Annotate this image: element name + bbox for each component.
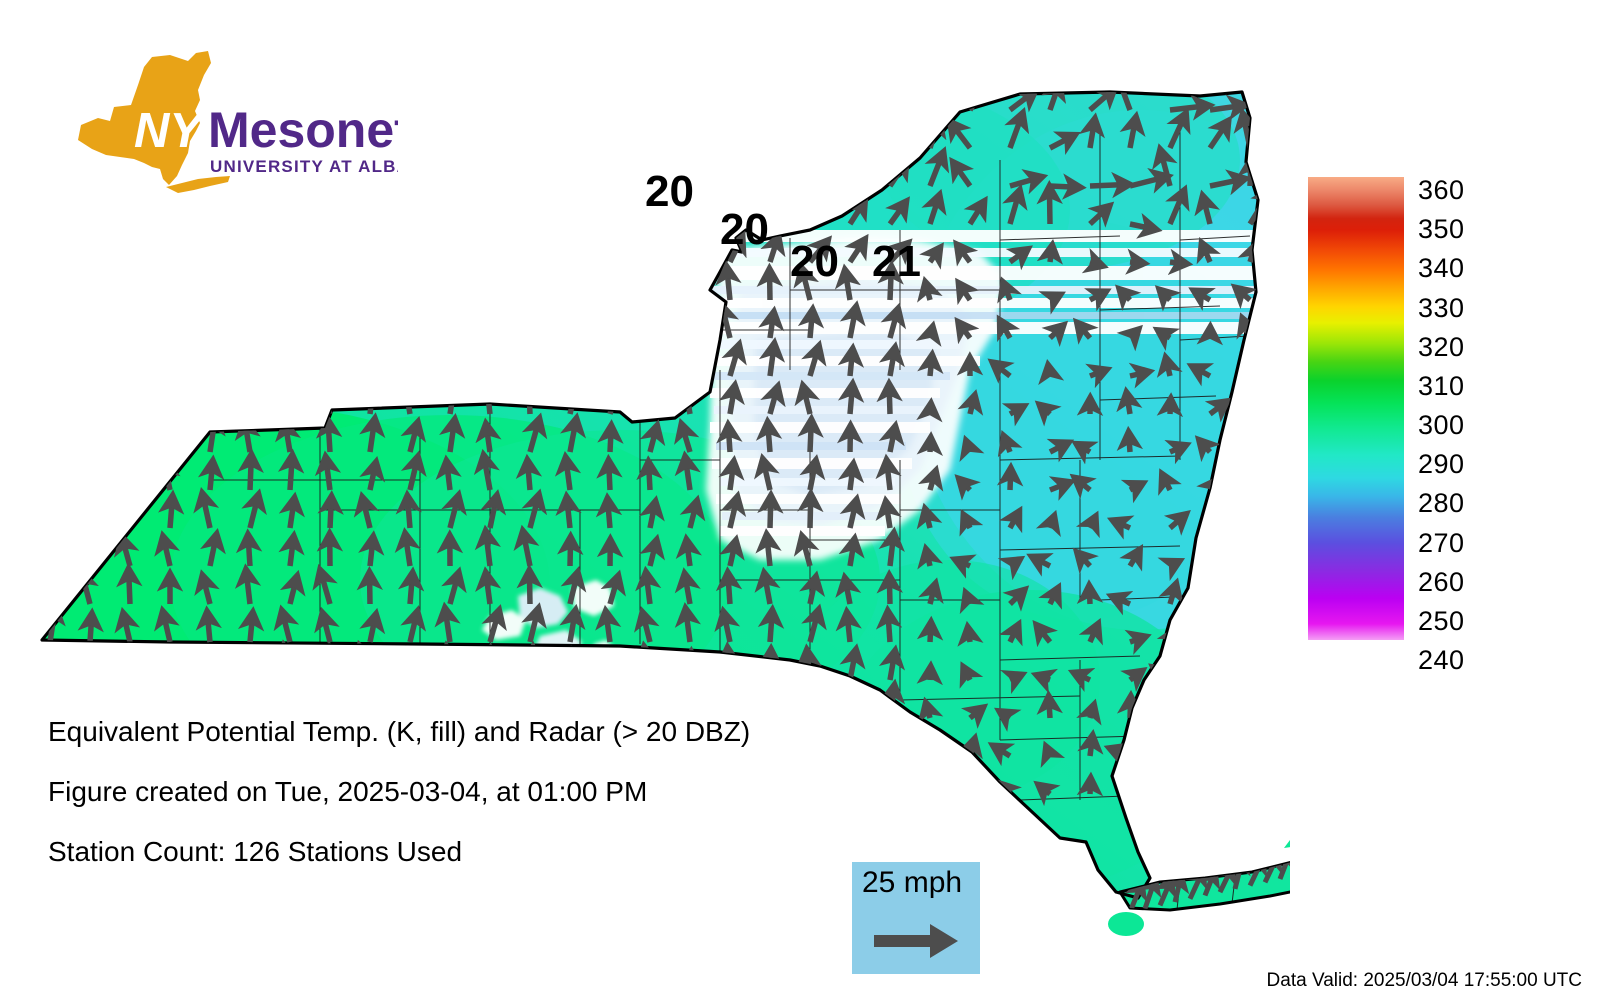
- wind-vector: [330, 347, 335, 376]
- wind-vector: [450, 230, 451, 262]
- wind-vector: [169, 304, 170, 338]
- wind-vector: [890, 533, 894, 566]
- wind-vector: [50, 538, 54, 566]
- wind-vector: [89, 417, 90, 452]
- wind-vector: [330, 233, 338, 262]
- wind-vector: [530, 192, 533, 224]
- wind-vector: [284, 646, 290, 680]
- wind-vector: [50, 81, 57, 110]
- wind-vector: [250, 455, 251, 490]
- wind-vector: [642, 343, 650, 376]
- wind-vector: [403, 194, 410, 224]
- wind-vector: [490, 227, 498, 262]
- wind-vector: [610, 652, 617, 680]
- wind-vector: [170, 270, 174, 300]
- wind-vector: [1050, 246, 1052, 263]
- wind-vector: [122, 118, 130, 148]
- wind-vector: [1243, 470, 1250, 490]
- wind-vector: [1170, 708, 1182, 718]
- wind-vector: [530, 272, 534, 300]
- wind-vector: [570, 651, 571, 680]
- wind-vector: [610, 426, 611, 452]
- wind-vector: [650, 234, 657, 262]
- wind-vector: [170, 649, 173, 680]
- wind-vector: [1250, 411, 1261, 414]
- wind-vector: [570, 305, 576, 338]
- wind-vector: [207, 270, 210, 300]
- wind-vector: [490, 155, 492, 186]
- wind-vector: [286, 114, 290, 148]
- wind-vector: [803, 689, 810, 718]
- wind-vector: [50, 576, 54, 604]
- wind-vector: [770, 195, 788, 224]
- colorbar-tick-340: 340: [1418, 255, 1465, 282]
- wind-vector: [1161, 741, 1170, 756]
- wind-vector: [566, 194, 571, 224]
- wind-vector: [447, 647, 451, 680]
- wind-vector: [90, 343, 96, 376]
- wind-vector: [810, 75, 828, 110]
- wind-vector: [930, 622, 931, 642]
- wind-vector: [1248, 358, 1251, 376]
- colorbar-tick-280: 280: [1418, 490, 1465, 517]
- wind-vector: [649, 462, 651, 490]
- wind-vector: [690, 346, 696, 376]
- wind-vector: [366, 307, 370, 338]
- wind-vector: [530, 80, 536, 111]
- wind-vector: [130, 456, 137, 490]
- wind-speed-key: 25 mph: [852, 862, 980, 974]
- wind-vector: [930, 355, 932, 376]
- wind-vector: [850, 384, 853, 414]
- colorbar-tick-310: 310: [1418, 373, 1465, 400]
- wind-vector: [1170, 399, 1171, 414]
- wind-vector: [290, 383, 294, 414]
- wind-vector: [1240, 559, 1250, 566]
- wind-vector: [81, 535, 90, 566]
- wind-vector: [969, 784, 970, 794]
- wind-vector: [888, 611, 890, 642]
- wind-vector: [850, 464, 853, 490]
- wind-vector: [689, 121, 690, 148]
- wind-vector: [170, 189, 172, 224]
- wind-vector: [1129, 433, 1130, 453]
- wind-vector: [730, 84, 742, 110]
- colorbar-tick-290: 290: [1418, 451, 1465, 478]
- colorbar-tick-300: 300: [1418, 412, 1465, 439]
- wind-vector: [250, 345, 251, 376]
- figure-created-text: Figure created on Tue, 2025-03-04, at 01…: [48, 778, 948, 806]
- wind-vector: [565, 113, 570, 148]
- wind-vector: [570, 684, 580, 718]
- wind-vector: [402, 113, 410, 148]
- wind-vector: [727, 267, 730, 300]
- wind-vector: [1250, 740, 1262, 756]
- wind-vector: [1090, 736, 1093, 756]
- wind-vector: [650, 308, 655, 338]
- wind-vector: [610, 157, 614, 186]
- wind-vector: [889, 384, 890, 414]
- wind-vector: [850, 349, 853, 376]
- wind-vector: [527, 460, 530, 490]
- wind-vector: [210, 307, 212, 338]
- wind-vector: [1210, 556, 1212, 566]
- wind-vector: [1089, 586, 1090, 604]
- wind-vector: [45, 155, 50, 186]
- wind-vector: [248, 535, 250, 566]
- wind-vector: [126, 423, 130, 452]
- right-arrow-icon: [874, 922, 960, 960]
- wind-vector: [441, 116, 450, 148]
- wind-vector: [290, 229, 297, 263]
- wind-vector: [283, 683, 291, 718]
- wind-vector: [49, 266, 50, 300]
- wind-vector: [930, 667, 931, 680]
- wind-vector: [810, 310, 813, 338]
- wind-vector: [1090, 778, 1091, 794]
- wind-vector: [121, 307, 130, 338]
- wind-vector: [610, 191, 615, 224]
- wind-vector: [566, 77, 570, 110]
- wind-vector: [890, 120, 902, 149]
- colorbar-tick-330: 330: [1418, 295, 1465, 322]
- wind-vector: [603, 85, 610, 110]
- wind-vector: [85, 304, 90, 338]
- wind-vector: [330, 268, 336, 300]
- colorbar-tick-360: 360: [1418, 177, 1465, 204]
- wind-vector: [45, 347, 51, 377]
- wind-vector: [210, 151, 218, 186]
- wind-vector: [408, 302, 410, 338]
- wind-vector: [730, 121, 743, 148]
- wind-vector: [770, 650, 771, 681]
- wind-vector: [646, 270, 650, 300]
- wind-vector: [770, 610, 772, 642]
- wind-vector: [90, 155, 97, 186]
- wind-vector: [570, 155, 571, 186]
- wind-vector: [490, 649, 491, 680]
- wind-vector: [50, 422, 52, 452]
- wind-vector: [208, 647, 210, 680]
- wind-vector: [249, 305, 250, 338]
- wind-vector: [850, 88, 866, 111]
- wind-vector: [207, 344, 211, 377]
- station-count-text: Station Count: 126 Stations Used: [48, 838, 948, 866]
- wind-vector: [686, 267, 690, 300]
- wind-vector: [768, 691, 770, 718]
- wind-vector: [44, 648, 50, 680]
- wind-vector: [370, 537, 373, 566]
- wind-vector: [728, 425, 730, 452]
- wind-vector: [446, 152, 450, 186]
- wind-vector: [330, 113, 332, 148]
- wind-vector: [850, 690, 854, 718]
- wind-vector: [609, 690, 610, 718]
- wind-vector: [1127, 393, 1131, 414]
- wind-vector: [770, 85, 785, 110]
- wind-vector: [243, 117, 250, 148]
- wind-vector: [330, 196, 332, 224]
- wind-vector: [1202, 709, 1210, 718]
- wind-vector: [450, 196, 457, 224]
- wind-vector: [84, 456, 91, 490]
- wind-vector: [1050, 186, 1080, 187]
- radar-contour-label-1: 20: [720, 208, 769, 252]
- wind-vector: [1230, 633, 1250, 642]
- wind-vector: [161, 688, 170, 718]
- wind-vector: [243, 690, 250, 718]
- wind-vector: [361, 192, 370, 224]
- wind-vector: [687, 540, 691, 566]
- wind-vector: [1048, 366, 1050, 377]
- wind-vector: [484, 308, 490, 338]
- wind-vector: [128, 232, 131, 262]
- wind-vector: [244, 266, 251, 300]
- wind-vector: [130, 492, 131, 528]
- wind-vector: [683, 237, 690, 262]
- wind-vector: [527, 227, 530, 262]
- wind-vector: [606, 274, 610, 300]
- data-valid-timestamp: Data Valid: 2025/03/04 17:55:00 UTC: [1267, 970, 1582, 992]
- colorbar-tick-270: 270: [1418, 530, 1465, 557]
- wind-vector: [90, 648, 93, 680]
- wind-vector: [407, 496, 410, 528]
- wind-vector: [165, 80, 170, 110]
- wind-vector: [330, 497, 332, 528]
- wind-vector: [524, 158, 530, 186]
- wind-vector: [608, 499, 611, 528]
- wind-vector: [1250, 713, 1260, 719]
- wind-vector: [170, 226, 172, 262]
- radar-contour-label-0: 20: [645, 170, 694, 214]
- wind-vector: [281, 343, 290, 376]
- wind-vector: [730, 462, 734, 490]
- wind-vector: [1250, 510, 1253, 528]
- wind-vector: [290, 189, 294, 224]
- wind-vector: [250, 234, 257, 262]
- wind-vector: [1046, 747, 1050, 756]
- wind-vector: [50, 305, 51, 339]
- wind-vector: [1210, 666, 1215, 680]
- wind-vector: [90, 272, 93, 300]
- wind-vector: [530, 688, 532, 718]
- wind-vector: [650, 117, 652, 148]
- colorbar-tick-350: 350: [1418, 216, 1465, 243]
- wind-vector: [1090, 705, 1094, 718]
- wind-vector: [130, 652, 134, 680]
- wind-vector: [850, 426, 851, 452]
- wind-vector: [286, 155, 291, 186]
- wind-vector: [370, 381, 374, 414]
- wind-vector: [1090, 262, 1103, 266]
- wind-vector: [1199, 750, 1210, 757]
- wind-vector: [810, 111, 822, 148]
- wind-vector: [50, 230, 54, 263]
- wind-vector: [125, 269, 130, 300]
- wind-vector: [1049, 697, 1050, 719]
- wind-vector: [730, 154, 741, 186]
- wind-vector: [567, 271, 570, 300]
- wind-vector: [330, 303, 332, 338]
- wind-vector: [130, 77, 131, 110]
- wind-vector: [810, 192, 817, 225]
- wind-vector: [90, 614, 92, 642]
- wind-vector: [966, 441, 970, 452]
- wind-vector: [850, 149, 861, 187]
- wind-vector: [607, 350, 610, 376]
- wind-vector: [609, 461, 610, 491]
- wind-vector: [930, 438, 931, 452]
- wind-vector: [249, 652, 250, 680]
- caption-block: Equivalent Potential Temp. (K, fill) and…: [48, 718, 948, 898]
- wind-vector: [250, 78, 255, 110]
- wind-vector: [206, 77, 210, 110]
- wind-vector: [290, 455, 292, 490]
- wind-vector: [645, 388, 650, 414]
- wind-vector: [90, 120, 94, 149]
- wind-vector: [208, 686, 210, 718]
- colorbar: [1308, 177, 1404, 640]
- colorbar-tick-320: 320: [1418, 334, 1465, 361]
- wind-vector: [130, 156, 132, 186]
- wind-vector: [608, 120, 610, 148]
- wind-vector: [968, 627, 970, 642]
- wind-vector: [850, 120, 877, 148]
- wind-vector: [650, 689, 654, 718]
- radar-contour-label-3: 21: [872, 240, 921, 284]
- wind-vector: [810, 494, 811, 528]
- wind-vector: [1090, 184, 1129, 186]
- wind-vector: [170, 154, 174, 186]
- wind-vector: [890, 82, 906, 110]
- wind-vector: [163, 386, 170, 414]
- wind-vector: [206, 385, 210, 414]
- wind-vector: [210, 229, 213, 262]
- wind-vector: [406, 685, 410, 718]
- wind-vector: [1240, 599, 1250, 604]
- wind-vector: [728, 648, 730, 680]
- wind-vector: [442, 308, 451, 338]
- wind-vector: [530, 647, 533, 680]
- wind-vector: [770, 154, 776, 186]
- wind-vector: [210, 193, 215, 224]
- wind-vector: [130, 342, 131, 376]
- wind-vector: [170, 120, 171, 148]
- colorbar-tick-260: 260: [1418, 569, 1465, 596]
- wind-vector: [1203, 783, 1210, 794]
- wind-vector: [360, 646, 370, 680]
- wind-vector: [330, 150, 334, 186]
- wind-vector: [90, 231, 93, 262]
- wind-vector: [170, 496, 173, 528]
- wind-vector: [364, 152, 370, 186]
- wind-vector: [47, 460, 50, 490]
- wind-vector: [1010, 468, 1011, 490]
- wind-vector: [690, 652, 691, 680]
- wind-vector: [610, 310, 617, 338]
- wind-vector: [1050, 516, 1054, 528]
- wind-vector: [446, 269, 450, 300]
- wind-vector: [210, 461, 213, 490]
- wind-vector: [966, 593, 970, 604]
- wind-vector: [90, 495, 98, 528]
- wind-vector: [83, 689, 90, 718]
- wind-vector: [770, 269, 771, 300]
- wind-vector: [244, 193, 250, 224]
- wind-vector: [1240, 669, 1251, 680]
- wind-vector: [485, 688, 490, 719]
- wind-vector: [81, 193, 90, 224]
- wind-vector: [521, 117, 530, 148]
- wind-vector: [643, 79, 650, 110]
- wind-vector: [362, 684, 371, 718]
- wind-vector: [1205, 593, 1211, 604]
- wind-vector: [1151, 784, 1170, 794]
- wind-vector: [529, 386, 530, 414]
- wind-vector: [770, 312, 774, 338]
- wind-vector: [450, 81, 458, 110]
- wind-vector: [41, 192, 50, 224]
- wind-vector: [409, 75, 410, 111]
- wind-vector: [210, 119, 213, 148]
- wind-vector: [290, 536, 294, 566]
- wind-vector: [930, 327, 933, 338]
- wind-vector: [483, 77, 490, 110]
- wind-vector: [170, 425, 175, 453]
- wind-vector: [810, 420, 811, 452]
- figure-title: Equivalent Potential Temp. (K, fill) and…: [48, 718, 948, 746]
- wind-vector: [644, 647, 650, 680]
- wind-vector: [207, 612, 210, 642]
- wind-vector: [330, 75, 332, 110]
- wind-vector: [1250, 787, 1258, 794]
- wind-vector: [362, 234, 370, 263]
- wind-vector: [1170, 262, 1187, 264]
- wind-vector: [847, 613, 850, 643]
- wind-vector: [770, 496, 771, 528]
- wind-vector: [887, 460, 890, 490]
- wind-vector: [690, 685, 691, 718]
- wind-vector: [130, 193, 133, 224]
- wind-vector: [487, 383, 491, 414]
- wind-vector: [370, 269, 379, 301]
- wind-vector: [50, 497, 52, 528]
- colorbar-tick-labels: 360350340330320310300290280270260250240: [1418, 168, 1538, 658]
- wind-vector: [1130, 776, 1138, 794]
- wind-vector: [329, 647, 330, 680]
- wind-speed-key-label: 25 mph: [862, 868, 962, 898]
- wind-vector: [1210, 518, 1226, 528]
- wind-vector: [483, 119, 490, 148]
- wind-vector: [130, 684, 137, 718]
- wind-vector: [370, 345, 373, 376]
- wind-vector: [529, 571, 530, 604]
- wind-vector: [123, 385, 130, 414]
- wind-vector: [328, 420, 330, 452]
- wind-vector: [1170, 629, 1177, 642]
- wind-vector: [410, 651, 416, 680]
- wind-vector: [410, 573, 413, 604]
- wind-vector: [530, 303, 540, 338]
- wind-vector: [1049, 187, 1050, 224]
- colorbar-gradient: [1308, 177, 1404, 640]
- wind-vector: [1153, 667, 1170, 680]
- wind-vector: [684, 78, 690, 110]
- wind-vector: [564, 345, 570, 376]
- wind-vector: [410, 343, 411, 376]
- wind-vector: [810, 158, 835, 186]
- colorbar-tick-240: 240: [1418, 647, 1465, 674]
